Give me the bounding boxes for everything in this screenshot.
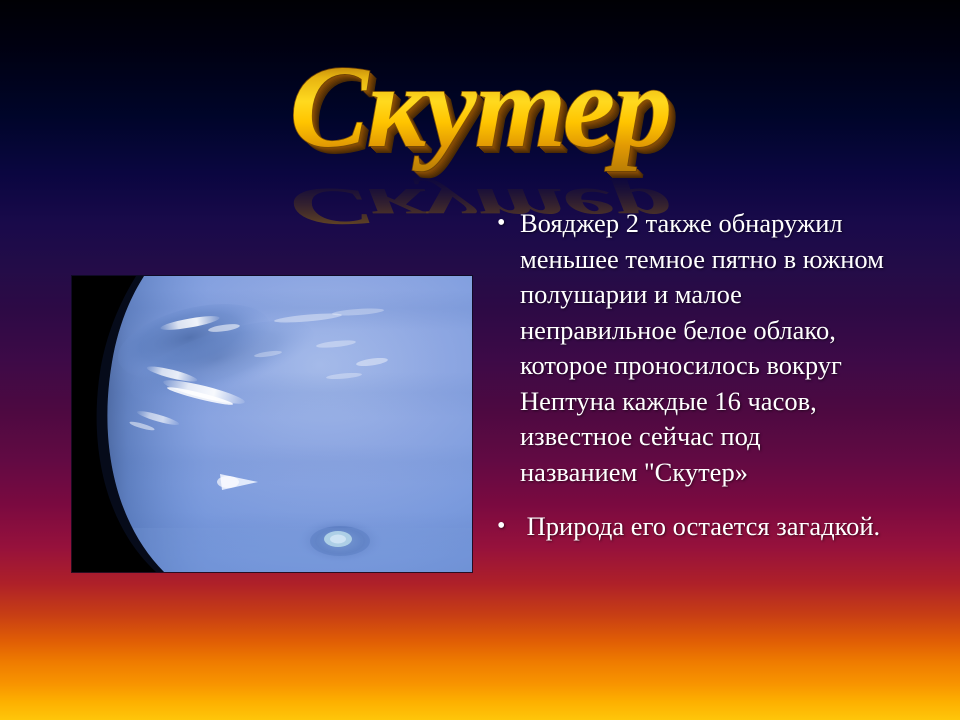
wordart-title-face: Скутер <box>290 41 671 172</box>
slide-title: Скутер Скутер Скутер Скутер Скутер Скуте… <box>0 46 960 176</box>
slide-body: • Вояджер 2 также обнаружил меньшее темн… <box>488 206 884 545</box>
bullet-text: Природа его остается загадкой. <box>520 509 884 545</box>
wordart-title-graphic: Скутер Скутер Скутер Скутер Скутер Скуте… <box>0 46 960 176</box>
neptune-image <box>72 276 472 572</box>
svg-text:Скутер: Скутер <box>297 48 678 179</box>
bullet-icon: • <box>488 509 520 545</box>
svg-text:Скутер: Скутер <box>295 46 676 177</box>
presentation-slide: Скутер Скутер Скутер Скутер Скутер Скуте… <box>0 0 960 720</box>
wordart-extrusion: Скутер Скутер Скутер Скутер Скутер Скуте… <box>292 43 678 179</box>
bullet-text: Вояджер 2 также обнаружил меньшее темное… <box>520 206 884 490</box>
list-item: • Природа его остается загадкой. <box>488 509 884 545</box>
bullet-icon: • <box>488 206 520 242</box>
svg-text:Скутер: Скутер <box>292 43 673 174</box>
svg-text:Скутер: Скутер <box>294 45 675 176</box>
list-item: • Вояджер 2 также обнаружил меньшее темн… <box>488 206 884 490</box>
svg-text:Скутер: Скутер <box>296 47 677 178</box>
neptune-image-graphic <box>72 276 472 572</box>
svg-text:Скутер: Скутер <box>293 44 674 175</box>
